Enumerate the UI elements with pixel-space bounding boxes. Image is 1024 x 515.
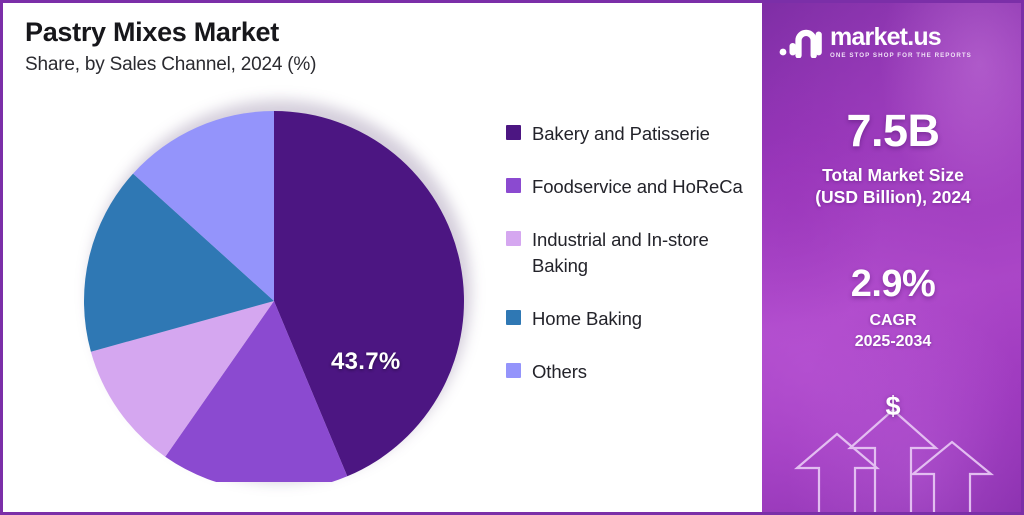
brand-tagline: ONE STOP SHOP FOR THE REPORTS: [830, 53, 972, 59]
market-size-value: 7.5B: [762, 107, 1024, 154]
pie-chart: 43.7%: [83, 92, 473, 482]
market-size-caption-line2: (USD Billion), 2024: [762, 186, 1024, 208]
pie-chart-svg: [83, 92, 473, 482]
page-title: Pastry Mixes Market: [25, 17, 316, 49]
legend-swatch-icon: [506, 178, 521, 193]
legend-item-others[interactable]: Others: [506, 359, 756, 386]
market-size-caption: Total Market Size (USD Billion), 2024: [762, 164, 1024, 208]
dollar-icon: $: [762, 391, 1024, 422]
brand-name: market.us: [830, 25, 972, 50]
chart-panel: Pastry Mixes Market Share, by Sales Chan…: [0, 0, 762, 515]
legend-item-label: Bakery and Patisserie: [532, 121, 710, 148]
cagr-caption-line1: CAGR: [762, 311, 1024, 332]
market-size-stat: 7.5B Total Market Size (USD Billion), 20…: [762, 107, 1024, 208]
brand-text: market.us ONE STOP SHOP FOR THE REPORTS: [830, 25, 972, 59]
pie-slice-label-bakery: 43.7%: [331, 348, 401, 376]
market-us-logo-icon: [778, 26, 822, 58]
legend-item-label: Foodservice and HoReCa: [532, 174, 743, 201]
legend-item-label: Others: [532, 359, 587, 386]
cagr-value: 2.9%: [762, 265, 1024, 305]
brand-logo[interactable]: market.us ONE STOP SHOP FOR THE REPORTS: [778, 25, 1008, 59]
legend-item-bakery-and-patisserie[interactable]: Bakery and Patisserie: [506, 121, 756, 148]
market-size-caption-line1: Total Market Size: [762, 164, 1024, 186]
legend-swatch-icon: [506, 231, 521, 246]
cagr-stat: 2.9% CAGR 2025-2034: [762, 265, 1024, 352]
chart-legend: Bakery and Patisserie Foodservice and Ho…: [506, 121, 756, 412]
title-block: Pastry Mixes Market Share, by Sales Chan…: [25, 17, 316, 77]
legend-swatch-icon: [506, 363, 521, 378]
legend-item-label: Industrial and In-store Baking: [532, 227, 756, 281]
legend-item-home-baking[interactable]: Home Baking: [506, 306, 756, 333]
legend-swatch-icon: [506, 310, 521, 325]
page-subtitle: Share, by Sales Channel, 2024 (%): [25, 54, 316, 77]
summary-panel: $ market.us ONE STOP SHOP FOR THE REPORT…: [762, 0, 1024, 515]
legend-swatch-icon: [506, 125, 521, 140]
market-infographic: Pastry Mixes Market Share, by Sales Chan…: [0, 0, 1024, 515]
cagr-caption: CAGR 2025-2034: [762, 311, 1024, 353]
legend-item-label: Home Baking: [532, 306, 642, 333]
cagr-caption-line2: 2025-2034: [762, 332, 1024, 353]
legend-item-industrial-and-in-store-baking[interactable]: Industrial and In-store Baking: [506, 227, 756, 281]
legend-item-foodservice-and-horeca[interactable]: Foodservice and HoReCa: [506, 174, 756, 201]
